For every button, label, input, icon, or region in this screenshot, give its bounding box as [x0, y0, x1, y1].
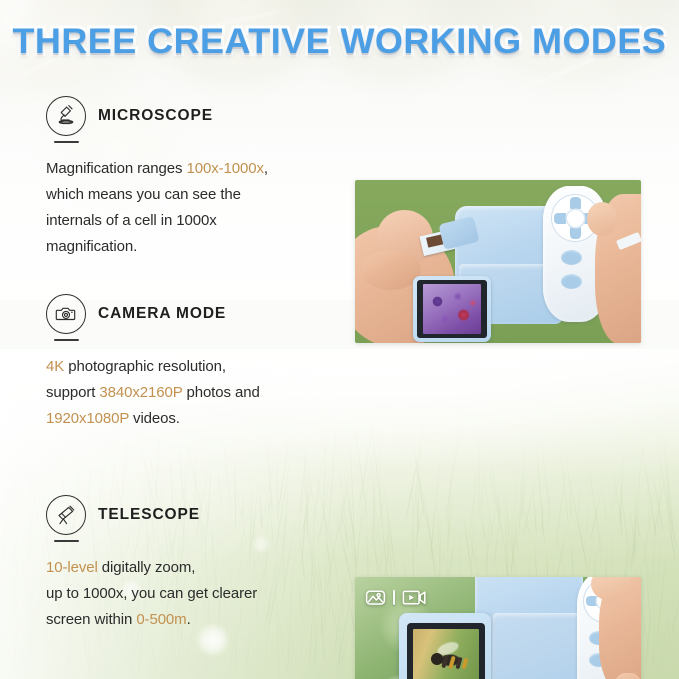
telescope-icon	[46, 495, 86, 535]
page-title-wrap: THREE CREATIVE WORKING MODES	[0, 24, 679, 59]
photo-video-mode-icons	[365, 589, 427, 606]
mode-title: CAMERA MODE	[98, 305, 226, 323]
highlighted-spec: 1920x1080P	[46, 410, 129, 427]
mode-heading: TELESCOPE	[46, 494, 342, 536]
infographic-page: THREE CREATIVE WORKING MODES	[0, 0, 679, 679]
microscope-icon	[46, 96, 86, 136]
video-icon	[402, 589, 427, 606]
photo-icon	[365, 589, 386, 606]
mode-heading: MICROSCOPE	[46, 95, 342, 137]
microscope-photo	[355, 180, 641, 343]
mode-description: Magnification ranges 100x-1000x,which me…	[46, 156, 342, 260]
icon-divider	[393, 590, 395, 605]
camera-mode-photo	[355, 577, 641, 679]
modes-content: MICROSCOPE Magnification ranges 100x-100…	[0, 0, 679, 679]
highlighted-spec: 100x-1000x	[186, 160, 263, 177]
mode-description: 4K photographic resolution,support 3840x…	[46, 354, 342, 432]
highlighted-spec: 3840x2160P	[99, 384, 182, 401]
mode-text-block: TELESCOPE 10-level digitally zoom,up to …	[46, 494, 342, 633]
icon-underline	[54, 339, 79, 341]
mode-title: TELESCOPE	[98, 506, 200, 524]
mode-title: MICROSCOPE	[98, 107, 213, 125]
highlighted-spec: 0-500m	[136, 611, 186, 628]
mode-description: 10-level digitally zoom,up to 1000x, you…	[46, 555, 342, 633]
icon-underline	[54, 540, 79, 542]
mode-heading: CAMERA MODE	[46, 293, 342, 335]
mode-text-block: CAMERA MODE 4K photographic resolution,s…	[46, 293, 342, 432]
mode-text-block: MICROSCOPE Magnification ranges 100x-100…	[46, 95, 342, 260]
camera-icon	[46, 294, 86, 334]
highlighted-spec: 4K	[46, 358, 64, 375]
highlighted-spec: 10-level	[46, 559, 98, 576]
icon-underline	[54, 141, 79, 143]
page-title: THREE CREATIVE WORKING MODES	[13, 24, 667, 59]
